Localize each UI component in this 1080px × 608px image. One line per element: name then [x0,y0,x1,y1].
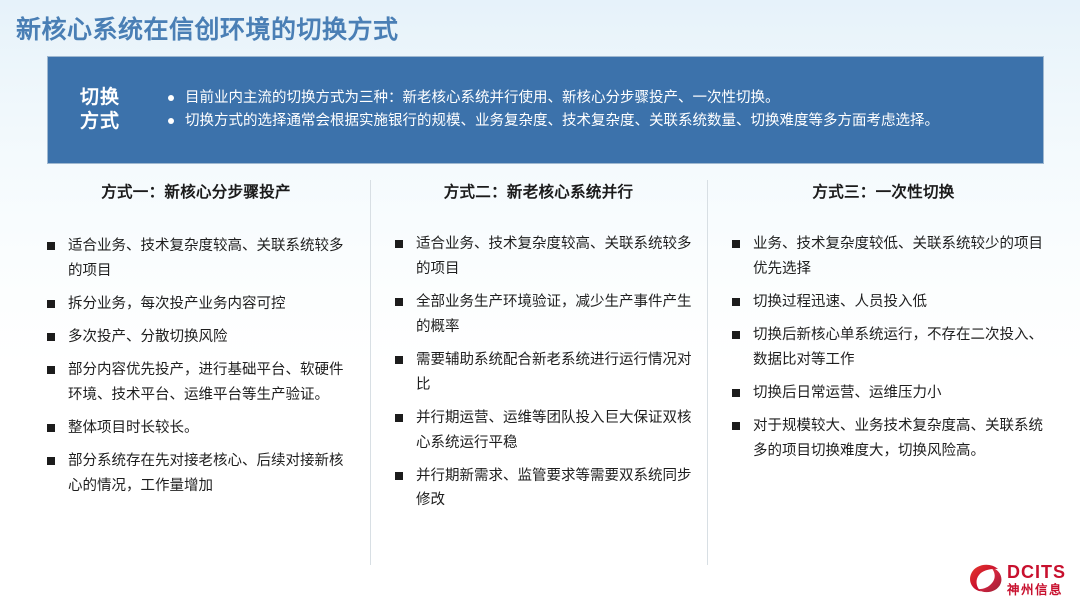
bullet-list: 业务、技术复杂度较低、关联系统较少的项目优先选择 切换过程迅速、人员投入低 切换… [721,232,1046,464]
column-method-two: 方式二：新老核心系统并行 适合业务、技术复杂度较高、关联系统较多的项目 全部业务… [370,180,707,570]
list-item: 并行期运营、运维等团队投入巨大保证双核心系统运行平稳 [394,406,693,456]
bullet-square-icon [47,300,55,308]
list-item-text: 拆分业务，每次投产业务内容可控 [68,296,286,312]
list-item-text: 部分内容优先投产，进行基础平台、软硬件环境、技术平台、运维平台等生产验证。 [68,362,344,403]
bullet-square-icon [732,389,740,397]
bullet-dot-icon [168,95,174,101]
banner-bullet-text: 切换方式的选择通常会根据实施银行的规模、业务复杂度、技术复杂度、关联系统数量、切… [185,113,939,129]
banner-label: 切换 方式 [54,86,146,134]
list-item-text: 切换后新核心单系统运行，不存在二次投入、数据比对等工作 [753,327,1043,368]
list-item: 拆分业务，每次投产业务内容可控 [46,292,356,317]
list-item: 部分内容优先投产，进行基础平台、软硬件环境、技术平台、运维平台等生产验证。 [46,358,356,408]
list-item: 适合业务、技术复杂度较高、关联系统较多的项目 [46,234,356,284]
list-item: 部分系统存在先对接老核心、后续对接新核心的情况，工作量增加 [46,449,356,499]
column-method-three: 方式三：一次性切换 业务、技术复杂度较低、关联系统较少的项目优先选择 切换过程迅… [707,180,1060,570]
list-item-text: 适合业务、技术复杂度较高、关联系统较多的项目 [68,238,344,279]
bullet-square-icon [732,240,740,248]
list-item: 切换后新核心单系统运行，不存在二次投入、数据比对等工作 [731,323,1046,373]
bullet-square-icon [732,422,740,430]
column-heading: 方式二：新老核心系统并行 [384,180,693,202]
column-heading: 方式三：一次性切换 [721,180,1046,202]
list-item: 业务、技术复杂度较低、关联系统较少的项目优先选择 [731,232,1046,282]
list-item: 对于规模较大、业务技术复杂度高、关联系统多的项目切换难度大，切换风险高。 [731,414,1046,464]
list-item-text: 切换后日常运营、运维压力小 [753,385,942,401]
bullet-square-icon [732,298,740,306]
banner-bullet-text: 目前业内主流的切换方式为三种：新老核心系统并行使用、新核心分步骤投产、一次性切换… [185,90,780,106]
list-item: 切换过程迅速、人员投入低 [731,290,1046,315]
bullet-list: 适合业务、技术复杂度较高、关联系统较多的项目 全部业务生产环境验证，减少生产事件… [384,232,693,513]
list-item: 整体项目时长较长。 [46,416,356,441]
bullet-square-icon [395,472,403,480]
list-item: 全部业务生产环境验证，减少生产事件产生的概率 [394,290,693,340]
list-item-text: 多次投产、分散切换风险 [68,329,228,345]
list-item-text: 对于规模较大、业务技术复杂度高、关联系统多的项目切换难度大，切换风险高。 [753,418,1043,459]
column-method-one: 方式一：新核心分步骤投产 适合业务、技术复杂度较高、关联系统较多的项目 拆分业务… [22,180,370,570]
bullet-dot-icon [168,118,174,124]
column-heading: 方式一：新核心分步骤投产 [36,180,356,202]
list-item: 需要辅助系统配合新老系统进行运行情况对比 [394,348,693,398]
list-item: 并行期新需求、监管要求等需要双系统同步修改 [394,464,693,514]
list-item-text: 切换过程迅速、人员投入低 [753,294,927,310]
banner-label-line2: 方式 [54,110,146,134]
bullet-square-icon [47,366,55,374]
banner-bullet: 目前业内主流的切换方式为三种：新老核心系统并行使用、新核心分步骤投产、一次性切换… [168,87,1027,109]
comparison-columns: 方式一：新核心分步骤投产 适合业务、技术复杂度较高、关联系统较多的项目 拆分业务… [22,180,1060,570]
list-item-text: 部分系统存在先对接老核心、后续对接新核心的情况，工作量增加 [68,453,344,494]
bullet-square-icon [47,333,55,341]
bullet-square-icon [47,424,55,432]
bullet-square-icon [395,298,403,306]
bullet-square-icon [395,356,403,364]
banner-label-line1: 切换 [54,86,146,110]
list-item-text: 并行期新需求、监管要求等需要双系统同步修改 [416,468,692,509]
banner-body: 目前业内主流的切换方式为三种：新老核心系统并行使用、新核心分步骤投产、一次性切换… [146,87,1043,134]
list-item-text: 适合业务、技术复杂度较高、关联系统较多的项目 [416,236,692,277]
bullet-square-icon [47,457,55,465]
company-logo: DCITS 神州信息 [968,563,1066,597]
logo-subtitle: 神州信息 [1007,584,1066,597]
list-item-text: 需要辅助系统配合新老系统进行运行情况对比 [416,352,692,393]
list-item: 多次投产、分散切换风险 [46,325,356,350]
list-item-text: 全部业务生产环境验证，减少生产事件产生的概率 [416,294,692,335]
bullet-square-icon [395,240,403,248]
bullet-square-icon [395,414,403,422]
summary-banner: 切换 方式 目前业内主流的切换方式为三种：新老核心系统并行使用、新核心分步骤投产… [47,56,1044,164]
list-item-text: 业务、技术复杂度较低、关联系统较少的项目优先选择 [753,236,1043,277]
logo-name: DCITS [1007,563,1066,581]
bullet-square-icon [732,331,740,339]
bullet-list: 适合业务、技术复杂度较高、关联系统较多的项目 拆分业务，每次投产业务内容可控 多… [36,234,356,498]
bullet-square-icon [47,242,55,250]
page-title: 新核心系统在信创环境的切换方式 [16,10,399,46]
banner-bullet: 切换方式的选择通常会根据实施银行的规模、业务复杂度、技术复杂度、关联系统数量、切… [168,110,1027,132]
list-item-text: 并行期运营、运维等团队投入巨大保证双核心系统运行平稳 [416,410,692,451]
list-item-text: 整体项目时长较长。 [68,420,199,436]
logo-text: DCITS 神州信息 [1007,563,1066,597]
list-item: 切换后日常运营、运维压力小 [731,381,1046,406]
dcits-swirl-icon [968,564,1002,594]
list-item: 适合业务、技术复杂度较高、关联系统较多的项目 [394,232,693,282]
